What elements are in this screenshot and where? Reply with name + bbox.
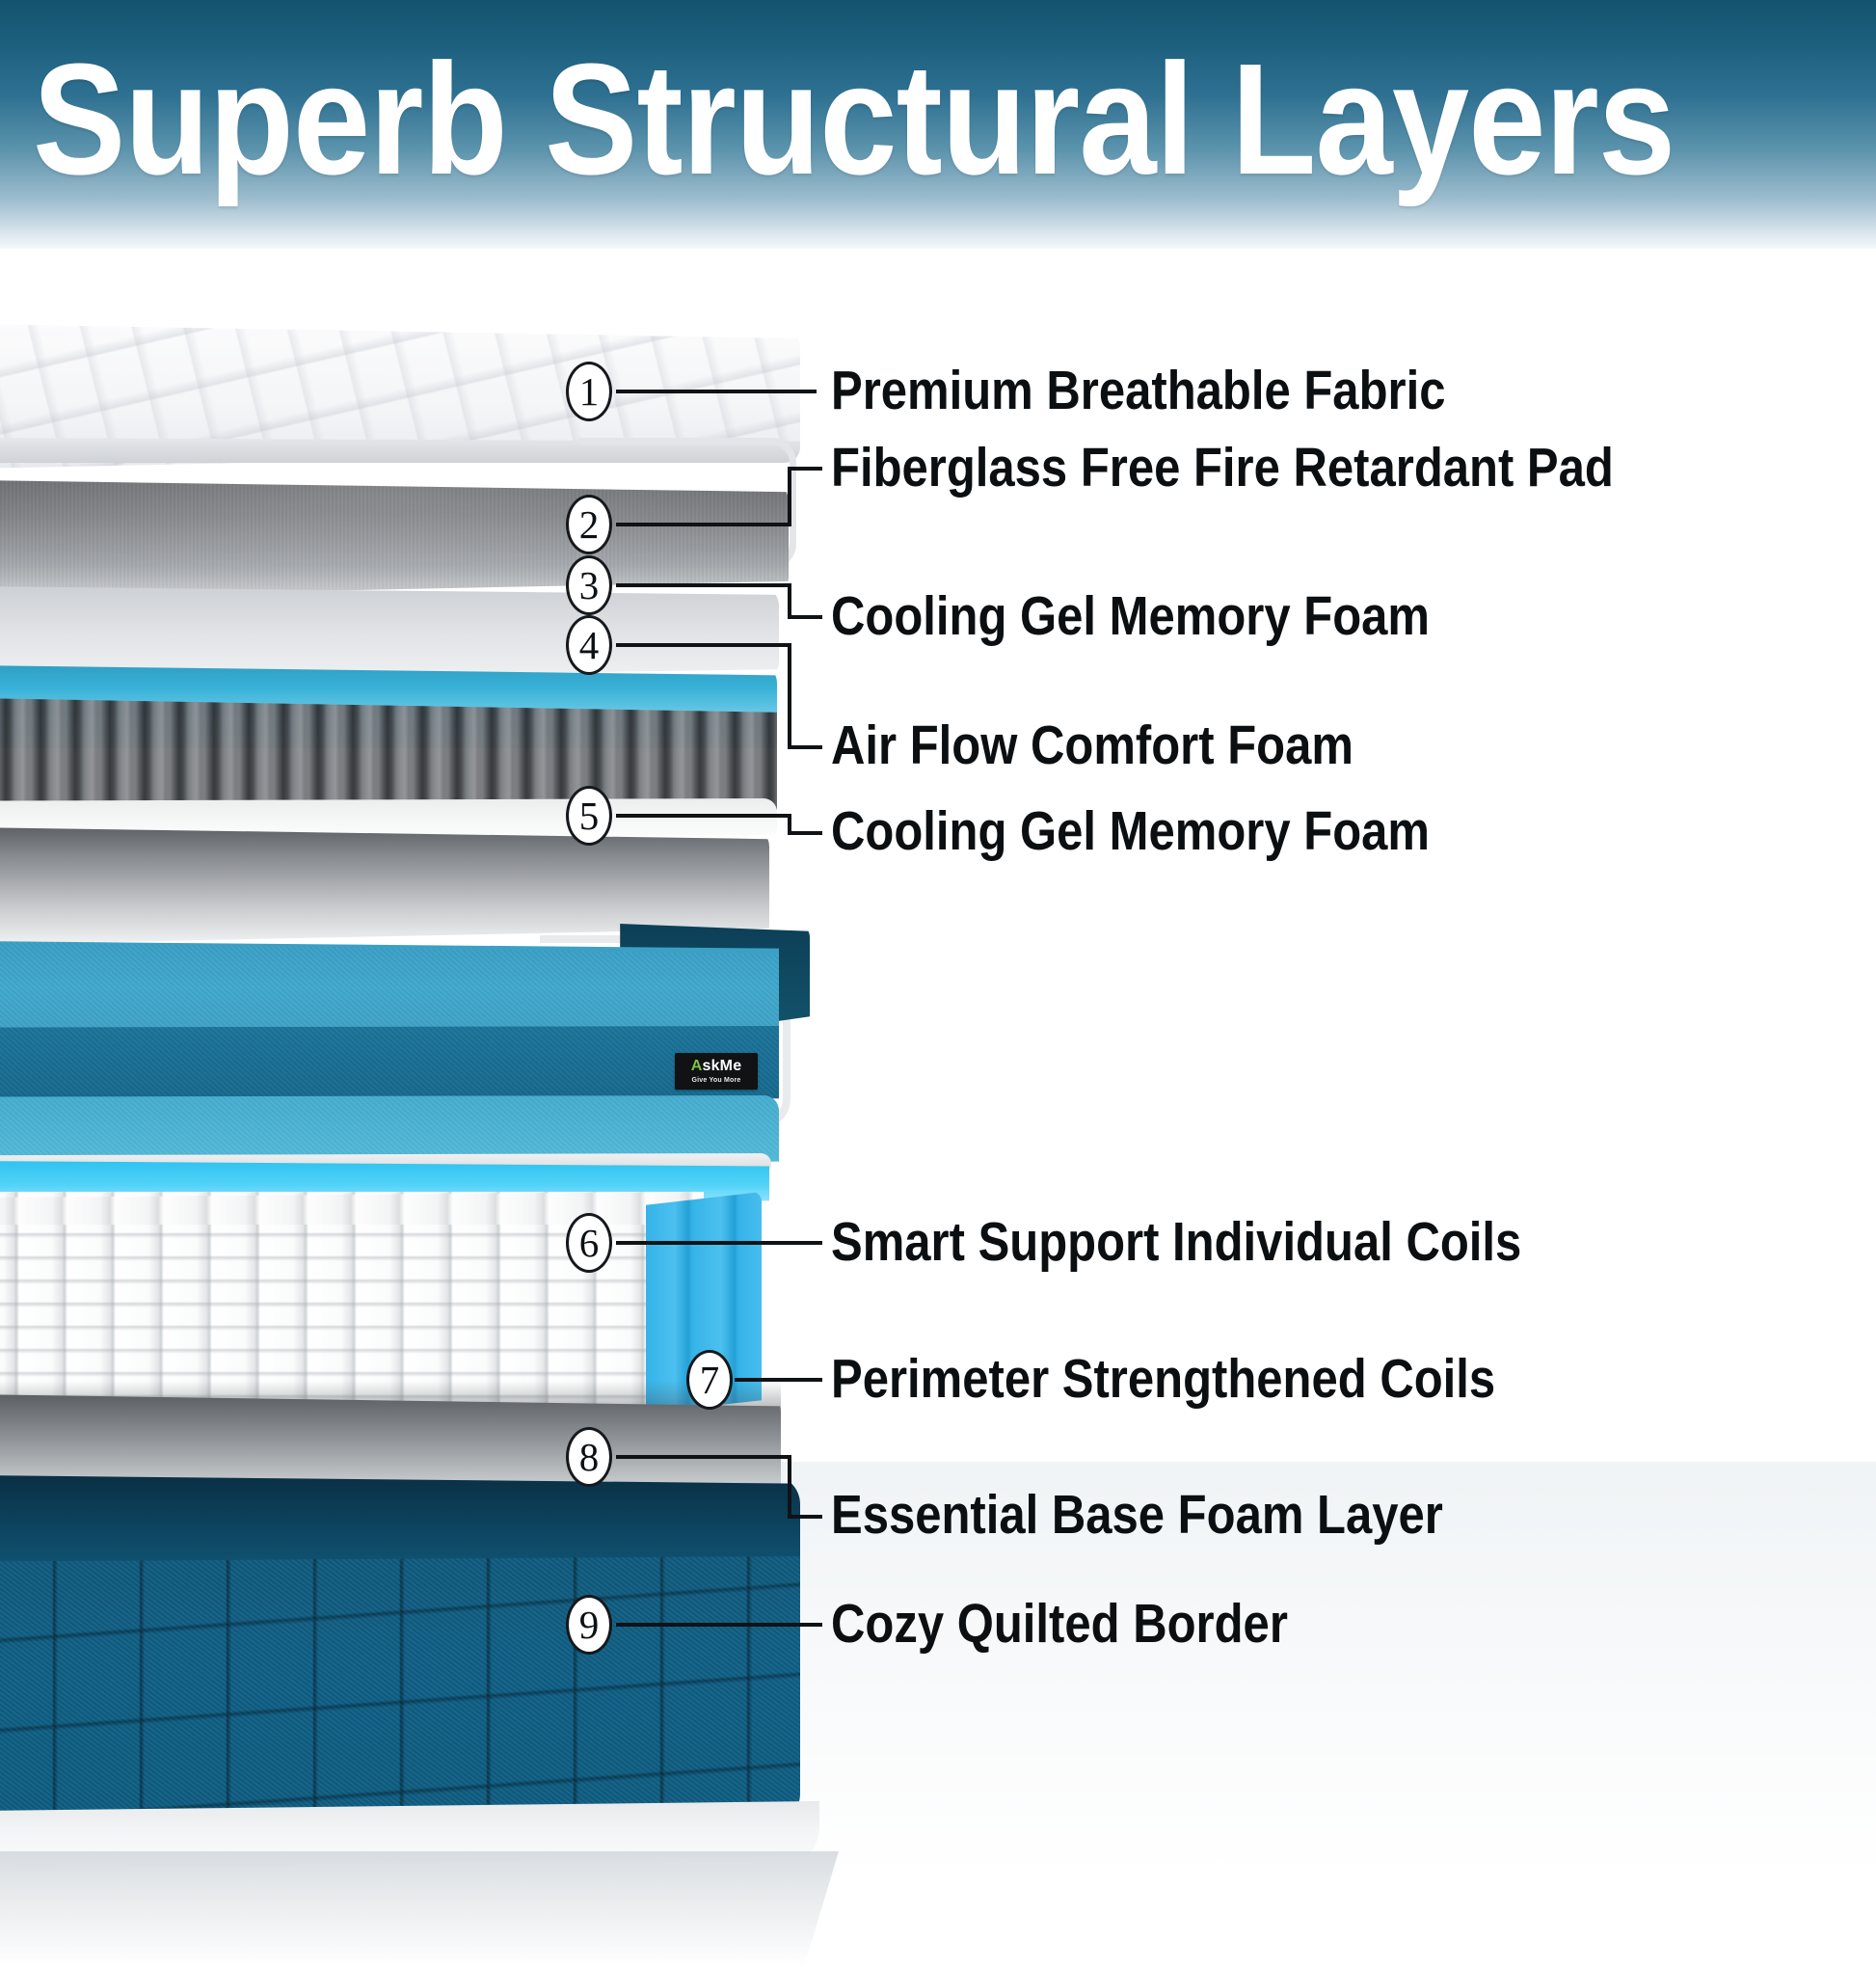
callout-number-4[interactable]: 4 (566, 615, 612, 675)
callout-label-7: Perimeter Strengthened Coils (831, 1349, 1495, 1409)
header-banner: Superb Structural Layers (0, 0, 1876, 249)
callout-number-7[interactable]: 7 (686, 1350, 733, 1410)
callout-number-8[interactable]: 8 (566, 1427, 612, 1487)
page-title: Superb Structural Layers (33, 35, 1675, 204)
layer-cooling-gel-memory-foam-blue (0, 941, 779, 1165)
brand-leaf-accent: A (691, 1058, 703, 1074)
mattress-drop-shadow (0, 1851, 839, 1967)
callout-number-2[interactable]: 2 (566, 495, 612, 554)
callout-number-1[interactable]: 1 (566, 362, 612, 421)
callout-number-5[interactable]: 5 (566, 786, 612, 846)
brand-logo-tag: AskMe Give You More (675, 1053, 758, 1090)
brand-name-rest: skMe (702, 1058, 741, 1074)
callout-label-9: Cozy Quilted Border (831, 1594, 1288, 1654)
callout-number-9[interactable]: 9 (566, 1595, 612, 1655)
blue-foam-texture (0, 941, 779, 1165)
quilt-top-dark-face (0, 1475, 800, 1568)
callout-label-6: Smart Support Individual Coils (831, 1212, 1521, 1272)
layer-fire-retardant-pad (0, 480, 789, 598)
mattress-diagram: AskMe Give You More 1 Premium Breathable… (0, 249, 1876, 1876)
callout-label-2: Fiberglass Free Fire Retardant Pad (831, 438, 1614, 498)
pad-grain (0, 480, 789, 598)
callout-label-3: Cooling Gel Memory Foam (831, 586, 1430, 646)
callout-number-3[interactable]: 3 (566, 555, 612, 615)
callout-label-8: Essential Base Foam Layer (831, 1485, 1443, 1545)
brand-tagline: Give You More (692, 1077, 741, 1084)
brand-name: AskMe (691, 1059, 742, 1074)
layer-pocketed-coil-unit (0, 1192, 781, 1414)
layer-air-flow-comfort-foam (0, 698, 777, 841)
callout-number-6[interactable]: 6 (566, 1213, 612, 1273)
quilt-fabric-texture (0, 1556, 800, 1826)
callout-label-4: Air Flow Comfort Foam (831, 715, 1353, 775)
callout-label-5: Cooling Gel Memory Foam (831, 801, 1430, 861)
callout-label-1: Premium Breathable Fabric (831, 361, 1445, 420)
